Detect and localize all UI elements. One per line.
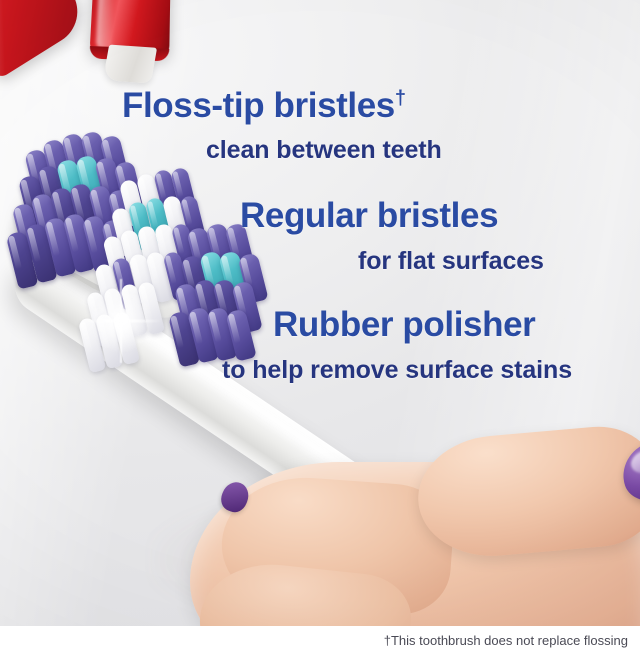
callout-text-block: Floss-tip bristles† clean between teeth … bbox=[0, 0, 640, 654]
callout-3-headline: Rubber polisher bbox=[273, 305, 535, 345]
footnote-text: †This toothbrush does not replace flossi… bbox=[384, 633, 628, 648]
footnote-band: †This toothbrush does not replace flossi… bbox=[0, 626, 640, 654]
callout-2-subline: for flat surfaces bbox=[358, 247, 544, 276]
callout-1-subline: clean between teeth bbox=[206, 136, 442, 165]
product-feature-image: Floss-tip bristles† clean between teeth … bbox=[0, 0, 640, 654]
callout-1-headline: Floss-tip bristles† bbox=[122, 86, 406, 126]
callout-3-subline: to help remove surface stains bbox=[222, 356, 572, 385]
callout-1-headline-text: Floss-tip bristles bbox=[122, 86, 395, 125]
callout-1-dagger: † bbox=[395, 87, 406, 109]
callout-2-headline: Regular bristles bbox=[240, 196, 498, 236]
